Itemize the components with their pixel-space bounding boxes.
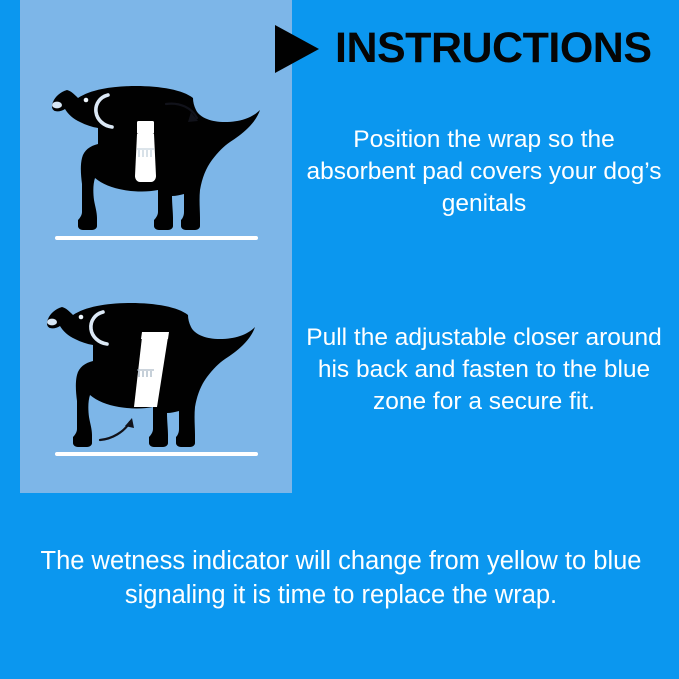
header: INSTRUCTIONS	[275, 18, 675, 78]
ground-line-1	[55, 236, 258, 240]
curved-arrow-up-icon-2	[100, 418, 134, 440]
dog-eye-1	[84, 98, 89, 103]
ground-line-2	[55, 452, 258, 456]
dog-nose-2	[47, 319, 57, 326]
dog-illustration-step-2	[20, 280, 292, 465]
step-1-text: Position the wrap so the absorbent pad c…	[303, 124, 665, 220]
instructions-page: INSTRUCTIONS	[0, 0, 679, 679]
dog-silhouette-1	[52, 86, 260, 230]
dog-eye-2	[79, 315, 84, 320]
footer-note: The wetness indicator will change from y…	[32, 545, 650, 612]
dog-nose-1	[52, 102, 62, 109]
dog-illustration-step-1	[20, 72, 292, 252]
wrap-strip-1	[135, 121, 156, 182]
page-title: INSTRUCTIONS	[335, 27, 652, 70]
step-2-text: Pull the adjustable closer around his ba…	[303, 322, 665, 418]
play-triangle-icon	[275, 25, 319, 73]
